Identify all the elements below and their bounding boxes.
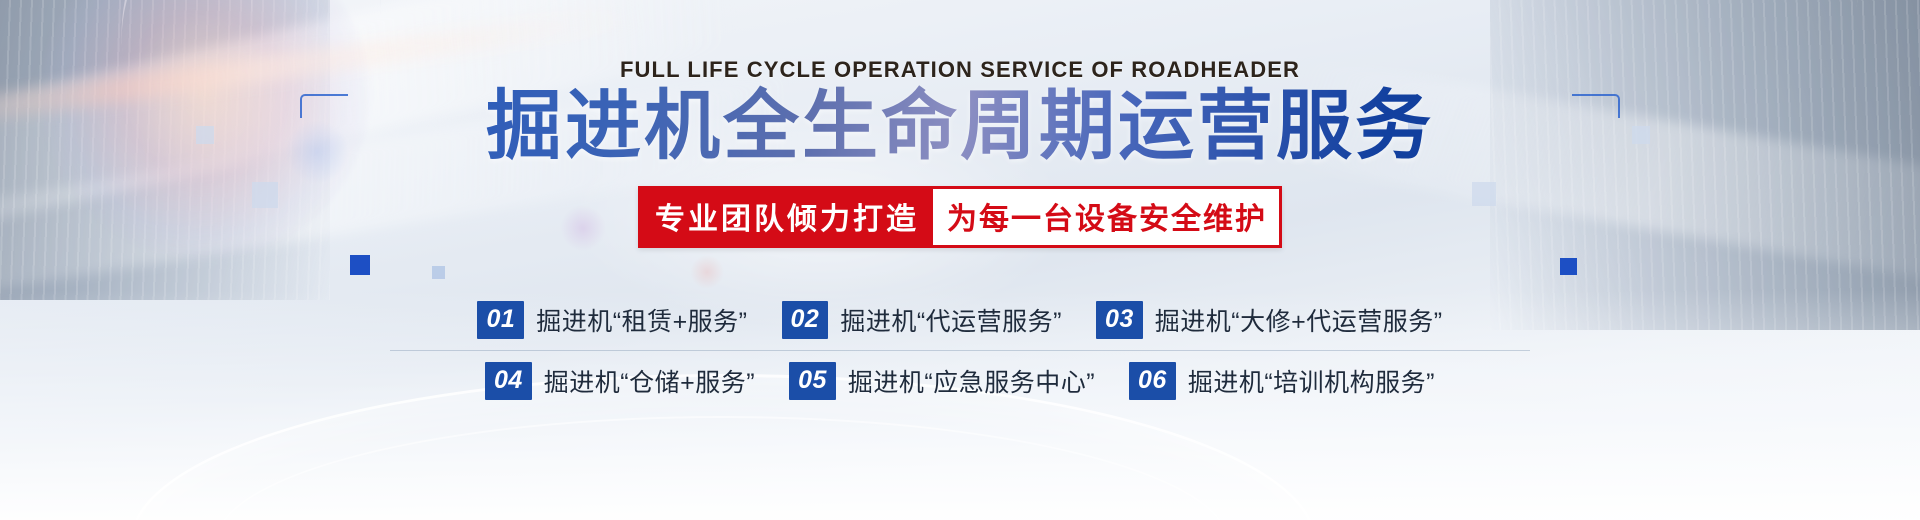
service-label: 掘进机“培训机构服务”	[1188, 363, 1435, 399]
service-item-01[interactable]: 01 掘进机“租赁+服务”	[477, 301, 747, 339]
english-subtitle: FULL LIFE CYCLE OPERATION SERVICE OF ROA…	[0, 57, 1920, 83]
service-item-06[interactable]: 06 掘进机“培训机构服务”	[1129, 362, 1435, 400]
service-item-03[interactable]: 03 掘进机“大修+代运营服务”	[1096, 301, 1443, 339]
service-label: 掘进机“应急服务中心”	[848, 363, 1095, 399]
promo-banner: FULL LIFE CYCLE OPERATION SERVICE OF ROA…	[0, 0, 1920, 520]
service-number-badge: 02	[782, 301, 829, 339]
service-item-05[interactable]: 05 掘进机“应急服务中心”	[789, 362, 1095, 400]
service-label: 掘进机“仓储+服务”	[544, 363, 755, 399]
service-label: 掘进机“大修+代运营服务”	[1155, 302, 1443, 338]
service-number-badge: 01	[477, 301, 524, 339]
tagline-ribbon-inner: 专业团队倾力打造 为每一台设备安全维护	[638, 186, 1282, 248]
page-title: 掘进机全生命周期运营服务	[0, 84, 1920, 170]
service-number-badge: 05	[789, 362, 836, 400]
service-item-04[interactable]: 04 掘进机“仓储+服务”	[485, 362, 755, 400]
banner-content: FULL LIFE CYCLE OPERATION SERVICE OF ROA…	[0, 0, 1920, 520]
service-number-badge: 04	[485, 362, 532, 400]
service-row-top: 01 掘进机“租赁+服务” 02 掘进机“代运营服务” 03 掘进机“大修+代运…	[390, 292, 1530, 348]
service-number-badge: 06	[1129, 362, 1176, 400]
service-item-02[interactable]: 02 掘进机“代运营服务”	[782, 301, 1062, 339]
service-label: 掘进机“租赁+服务”	[536, 302, 747, 338]
service-number-badge: 03	[1096, 301, 1143, 339]
tagline-ribbon: 专业团队倾力打造 为每一台设备安全维护	[0, 186, 1920, 248]
service-row-bottom: 04 掘进机“仓储+服务” 05 掘进机“应急服务中心” 06 掘进机“培训机构…	[390, 350, 1530, 409]
tagline-primary: 专业团队倾力打造	[641, 189, 933, 245]
service-label: 掘进机“代运营服务”	[840, 302, 1062, 338]
tagline-secondary: 为每一台设备安全维护	[933, 189, 1279, 245]
service-list: 01 掘进机“租赁+服务” 02 掘进机“代运营服务” 03 掘进机“大修+代运…	[390, 292, 1530, 409]
